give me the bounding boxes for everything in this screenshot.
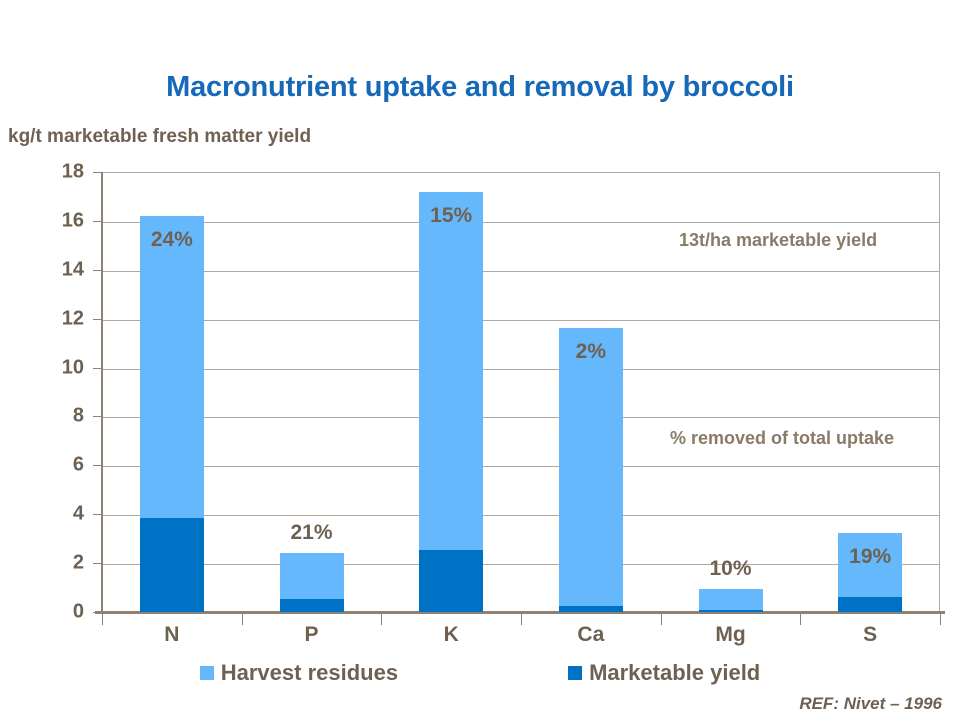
bar-data-label-mg: 10% [709, 557, 751, 581]
y-axis-tick [93, 465, 102, 466]
reference-footer: REF: Nivet – 1996 [799, 694, 942, 714]
bar-segment-marketable-yield-s[interactable] [838, 597, 902, 612]
gridline [103, 369, 939, 370]
bar-segment-marketable-yield-n[interactable] [140, 518, 204, 612]
gridline [103, 417, 939, 418]
x-axis-tick [242, 614, 243, 625]
x-axis-tick [661, 614, 662, 625]
gridline [103, 515, 939, 516]
y-axis-unit-label: kg/t marketable fresh matter yield [8, 126, 311, 148]
x-axis-category-label-k: K [444, 623, 459, 647]
x-axis-tick [940, 614, 941, 625]
x-axis-tick [521, 614, 522, 625]
gridline [103, 222, 939, 223]
page-title: Macronutrient uptake and removal by broc… [0, 71, 960, 104]
y-axis-line [101, 172, 103, 613]
bar-segment-harvest-residues-p[interactable] [280, 553, 344, 599]
annotation-percent-removed: % removed of total uptake [670, 428, 894, 449]
legend-label-harvest-residues: Harvest residues [221, 660, 398, 686]
x-axis-category-label-ca: Ca [577, 623, 604, 647]
bar-segment-marketable-yield-ca[interactable] [559, 606, 623, 612]
legend-swatch-yield-icon [568, 666, 582, 680]
y-axis-tick [93, 221, 102, 222]
legend-item-harvest-residues[interactable]: Harvest residues [200, 660, 398, 686]
y-axis-tick-label: 18 [24, 161, 84, 184]
x-axis-category-label-s: S [863, 623, 877, 647]
y-axis-tick-label: 14 [24, 258, 84, 281]
bar-segment-marketable-yield-p[interactable] [280, 599, 344, 612]
annotation-marketable-yield: 13t/ha marketable yield [679, 230, 877, 251]
y-axis-tick-label: 0 [24, 601, 84, 624]
gridline [103, 466, 939, 467]
bar-segment-harvest-residues-mg[interactable] [699, 589, 763, 610]
y-axis-tick [93, 368, 102, 369]
x-axis-tick [102, 614, 103, 625]
y-axis-tick [93, 514, 102, 515]
y-axis-tick [93, 270, 102, 271]
y-axis-tick [93, 563, 102, 564]
bar-data-label-n: 24% [151, 228, 193, 252]
y-axis-tick-label: 12 [24, 307, 84, 330]
y-axis-tick-label: 16 [24, 209, 84, 232]
bar-data-label-s: 19% [849, 545, 891, 569]
y-axis-tick-label: 10 [24, 356, 84, 379]
y-axis-tick [93, 612, 102, 613]
legend-swatch-residues-icon [200, 666, 214, 680]
legend-item-marketable-yield[interactable]: Marketable yield [568, 660, 760, 686]
x-axis-category-label-n: N [164, 623, 179, 647]
legend-label-marketable-yield: Marketable yield [589, 660, 760, 686]
gridline [103, 320, 939, 321]
x-axis-tick [381, 614, 382, 625]
x-axis-line [95, 611, 945, 614]
chart-legend: Harvest residues Marketable yield [0, 660, 960, 686]
bar-data-label-ca: 2% [576, 340, 606, 364]
y-axis-tick [93, 172, 102, 173]
gridline [103, 564, 939, 565]
chart-slide: Macronutrient uptake and removal by broc… [0, 0, 960, 720]
y-axis-tick [93, 319, 102, 320]
bar-segment-marketable-yield-mg[interactable] [699, 610, 763, 612]
bar-segment-marketable-yield-k[interactable] [419, 550, 483, 612]
bar-segment-harvest-residues-n[interactable] [140, 216, 204, 518]
gridline [103, 271, 939, 272]
y-axis-tick-label: 6 [24, 454, 84, 477]
x-axis-category-label-mg: Mg [715, 623, 745, 647]
bar-data-label-p: 21% [290, 521, 332, 545]
x-axis-tick [800, 614, 801, 625]
bar-data-label-k: 15% [430, 204, 472, 228]
y-axis-tick-label: 2 [24, 552, 84, 575]
bar-segment-harvest-residues-k[interactable] [419, 192, 483, 550]
y-axis-tick-label: 4 [24, 503, 84, 526]
y-axis-tick [93, 416, 102, 417]
bar-segment-harvest-residues-ca[interactable] [559, 328, 623, 605]
y-axis-tick-label: 8 [24, 405, 84, 428]
x-axis-category-label-p: P [304, 623, 318, 647]
